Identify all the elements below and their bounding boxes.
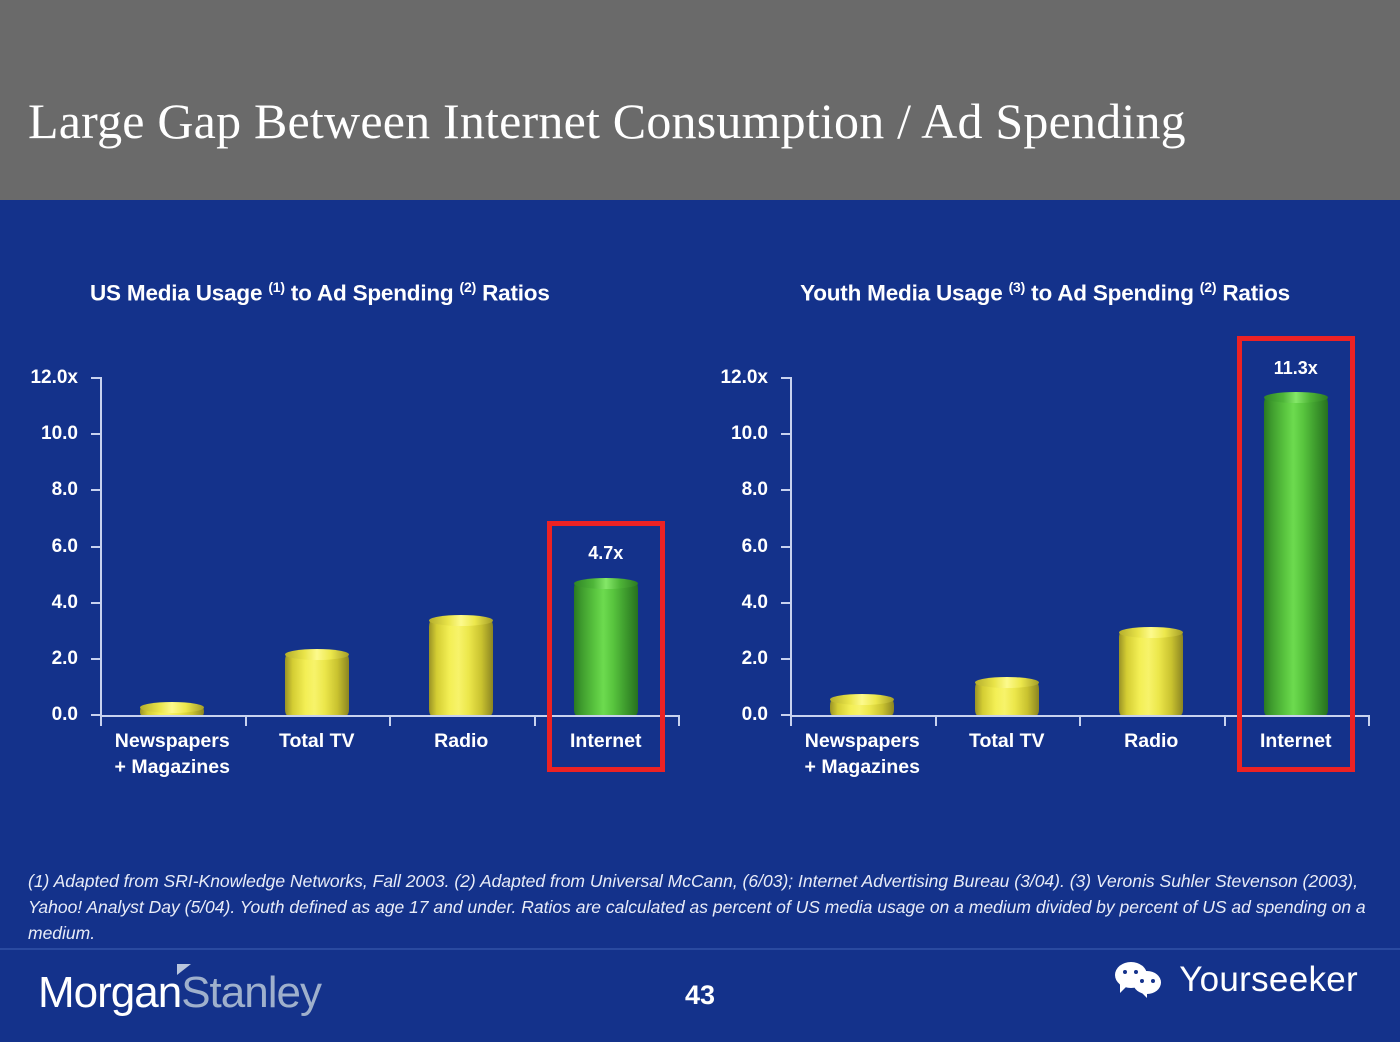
y-axis-tick [91, 433, 102, 435]
brand-watermark: Yourseeker [1115, 960, 1358, 1000]
y-axis-tick [781, 602, 792, 604]
y-axis-tick-label: 10.0 [648, 423, 768, 445]
chart-title-youth-media: Youth Media Usage (3) to Ad Spending (2)… [700, 270, 1390, 311]
chart-title-part-a: Youth Media Usage [800, 281, 1009, 306]
bar-cap [285, 649, 349, 660]
slide: Large Gap Between Internet Consumption /… [0, 0, 1400, 1042]
bar-radio[interactable] [429, 373, 493, 720]
wechat-icon [1115, 960, 1167, 1000]
y-axis-tick [91, 489, 102, 491]
bar-body [429, 621, 493, 715]
y-axis-tick-label: 12.0x [648, 367, 768, 389]
bar-newspapers-magazines[interactable] [830, 373, 894, 720]
footnote-ref-2: (2) [460, 279, 477, 295]
y-axis-tick-label: 2.0 [648, 648, 768, 670]
y-axis-tick-label: 6.0 [0, 536, 78, 558]
y-axis-tick [91, 377, 102, 379]
bar-total-tv[interactable] [975, 373, 1039, 720]
x-axis-tick [389, 715, 391, 726]
chart-title-part-b: to Ad Spending [1025, 281, 1200, 306]
chart-title-part-c: Ratios [1216, 281, 1290, 306]
highlight-box-internet [547, 521, 665, 772]
plot-area-youth-media: 12.0x10.08.06.04.02.00.0Newspapers+ Maga… [790, 370, 1370, 720]
y-axis-tick-label: 8.0 [648, 479, 768, 501]
chart-title-part-c: Ratios [476, 281, 550, 306]
y-axis-line [790, 378, 792, 717]
y-axis-tick [781, 377, 792, 379]
bar-cap [1119, 627, 1183, 638]
x-axis-tick [935, 715, 937, 726]
bar-body [285, 655, 349, 715]
footnote-ref-2: (2) [1200, 279, 1217, 295]
chart-title-part-b: to Ad Spending [285, 281, 460, 306]
x-axis-tick [790, 715, 792, 726]
page-title: Large Gap Between Internet Consumption /… [28, 92, 1378, 150]
x-axis-tick [534, 715, 536, 726]
footnote-text: (1) Adapted from SRI-Knowledge Networks,… [28, 868, 1368, 946]
bar-newspapers-magazines[interactable] [140, 373, 204, 720]
y-axis-tick [781, 546, 792, 548]
chart-title-us-media: US Media Usage (1) to Ad Spending (2) Ra… [10, 270, 700, 311]
category-label-line: + Magazines [772, 754, 952, 780]
y-axis-tick-label: 8.0 [0, 479, 78, 501]
y-axis-tick-label: 4.0 [648, 592, 768, 614]
y-axis-tick [91, 602, 102, 604]
footnote-ref-3: (3) [1009, 279, 1026, 295]
x-axis-tick [100, 715, 102, 726]
x-axis-tick [1079, 715, 1081, 726]
y-axis-tick-label: 4.0 [0, 592, 78, 614]
category-label-line: + Magazines [82, 754, 262, 780]
chart-panel-youth-media: Youth Media Usage (3) to Ad Spending (2)… [700, 270, 1390, 830]
x-axis-tick [1224, 715, 1226, 726]
brand-name: Yourseeker [1179, 960, 1358, 1000]
y-axis-tick-label: 10.0 [0, 423, 78, 445]
y-axis-tick [91, 658, 102, 660]
y-axis-tick-label: 6.0 [648, 536, 768, 558]
bar-radio[interactable] [1119, 373, 1183, 720]
bar-total-tv[interactable] [285, 373, 349, 720]
footnote-ref-1: (1) [268, 279, 285, 295]
chart-title-part-a: US Media Usage [90, 281, 268, 306]
y-axis-line [100, 378, 102, 717]
y-axis-tick [781, 658, 792, 660]
plot-area-us-media: 12.0x10.08.06.04.02.00.0Newspapers+ Maga… [100, 370, 680, 720]
x-axis-tick [1368, 715, 1370, 726]
morgan-stanley-triangle-icon [177, 964, 191, 975]
x-axis-tick [245, 715, 247, 726]
footer-divider [0, 948, 1400, 950]
y-axis-tick [781, 433, 792, 435]
highlight-box-internet [1237, 336, 1355, 772]
y-axis-tick [91, 546, 102, 548]
y-axis-tick-label: 0.0 [0, 704, 78, 726]
chart-panel-us-media: US Media Usage (1) to Ad Spending (2) Ra… [10, 270, 700, 830]
y-axis-tick-label: 0.0 [648, 704, 768, 726]
y-axis-tick-label: 12.0x [0, 367, 78, 389]
bar-body [1119, 632, 1183, 715]
y-axis-tick [781, 489, 792, 491]
y-axis-tick-label: 2.0 [0, 648, 78, 670]
